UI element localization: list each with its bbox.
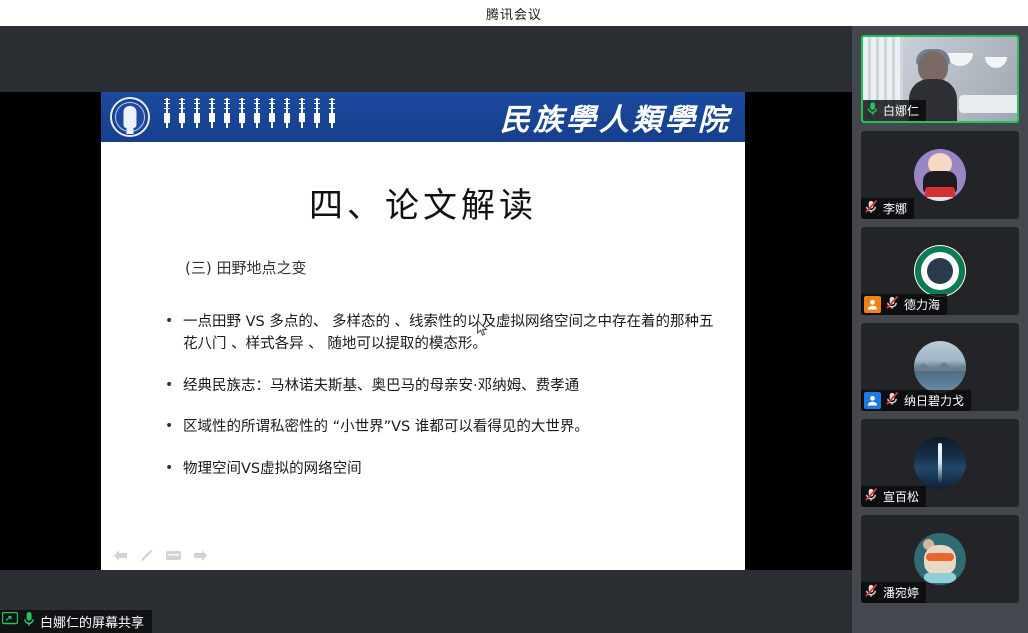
participant-name: 李娜 (883, 200, 907, 217)
stage-top-strip (0, 26, 852, 92)
meeting-window: 腾讯会议 民族學人類學院 四、论文解读 (三) 田野地点之变 一点田野 VS 多… (0, 0, 1028, 633)
slide-title: 四、论文解读 (101, 178, 745, 227)
slide-institution-name: 民族學人類學院 (500, 95, 731, 139)
screen-share-status-bar: 白娜仁的屏幕共享 (0, 610, 152, 633)
participant-tile[interactable]: 李娜 (861, 131, 1019, 219)
participant-name: 纳日碧力戈 (904, 392, 964, 409)
avatar (914, 533, 966, 585)
screen-share-label: 白娜仁的屏幕共享 (40, 612, 144, 631)
slide-subtitle: (三) 田野地点之变 (185, 257, 745, 278)
participant-name-chip: 李娜 (861, 198, 914, 219)
mongolian-script-icon (164, 96, 335, 138)
participant-name-chip: 白娜仁 (863, 100, 926, 121)
pen-icon[interactable] (140, 549, 154, 562)
participant-name-chip: 宣百松 (861, 486, 926, 507)
list-item: 一点田野 VS 多点的、 多样态的 、线索性的以及虚拟网络空间之中存在着的那种五… (163, 312, 723, 356)
university-seal-icon (110, 97, 150, 137)
participant-name: 潘宛婷 (883, 584, 919, 601)
avatar (914, 149, 966, 201)
list-item: 区域性的所谓私密性的 “小世界”VS 谁都可以看得见的大世界。 (163, 417, 723, 439)
microphone-muted-icon (864, 583, 879, 603)
participant-name: 德力海 (904, 296, 940, 313)
cohost-badge-icon (864, 392, 881, 409)
participant-tile[interactable]: 德力海 (861, 227, 1019, 315)
participant-tile[interactable]: 宣百松 (861, 419, 1019, 507)
participant-tile[interactable]: 纳日碧力戈 (861, 323, 1019, 411)
previous-slide-icon[interactable] (113, 549, 128, 562)
slide-menu-icon[interactable] (166, 550, 181, 561)
microphone-muted-icon (885, 391, 900, 411)
screen-share-icon (2, 612, 18, 631)
next-slide-icon[interactable] (193, 549, 208, 562)
participant-tile[interactable]: 白娜仁 (861, 35, 1019, 123)
microphone-muted-icon (864, 199, 879, 219)
participant-name: 宣百松 (883, 488, 919, 505)
slide-bullet-list: 一点田野 VS 多点的、 多样态的 、线索性的以及虚拟网络空间之中存在着的那种五… (101, 312, 745, 481)
list-item: 经典民族志：马林诺夫斯基、奥巴马的母亲安·邓纳姆、费孝通 (163, 376, 723, 398)
avatar (914, 341, 966, 393)
microphone-muted-icon (885, 295, 900, 315)
microphone-icon (866, 101, 879, 121)
participant-tile[interactable]: 潘宛婷 (861, 515, 1019, 603)
participant-name: 白娜仁 (883, 102, 919, 119)
host-badge-icon (864, 296, 881, 313)
window-title-bar: 腾讯会议 (0, 0, 1028, 26)
avatar (914, 437, 966, 489)
microphone-muted-icon (864, 487, 879, 507)
participant-name-chip: 德力海 (861, 294, 947, 315)
slide-banner: 民族學人類學院 (101, 92, 745, 142)
participant-name-chip: 纳日碧力戈 (861, 390, 971, 411)
mouse-cursor (477, 320, 489, 337)
avatar (914, 245, 966, 297)
microphone-icon (23, 611, 35, 632)
presentation-toolbar[interactable] (113, 549, 208, 562)
list-item: 物理空间VS虚拟的网络空间 (163, 459, 723, 481)
participant-sidebar[interactable]: 白娜仁 李娜 (852, 26, 1028, 633)
app-title: 腾讯会议 (486, 4, 542, 23)
shared-screen-slide[interactable]: 民族學人類學院 四、论文解读 (三) 田野地点之变 一点田野 VS 多点的、 多… (101, 92, 745, 570)
participant-name-chip: 潘宛婷 (861, 582, 926, 603)
